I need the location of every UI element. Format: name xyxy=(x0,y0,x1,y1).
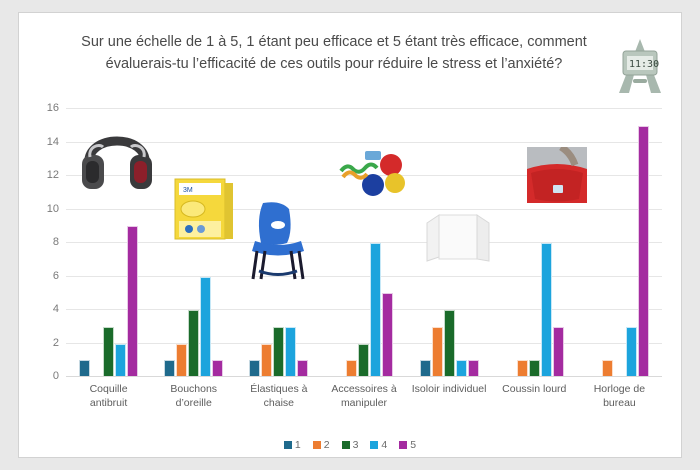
x-axis-label: Bouchons d’oreille xyxy=(151,383,236,411)
bar-series-3 xyxy=(529,360,540,377)
y-axis-tick: 0 xyxy=(53,370,59,382)
bar-series-2 xyxy=(176,344,187,378)
x-axis-line xyxy=(66,376,662,377)
y-axis-tick: 16 xyxy=(47,102,59,114)
plot-area: 0246810121416 3M11:30 xyxy=(66,109,662,377)
bar-series-3 xyxy=(103,327,114,377)
bar-series-2 xyxy=(346,360,357,377)
bar-series-5 xyxy=(553,327,564,377)
legend-item-3[interactable]: 3 xyxy=(342,439,359,451)
y-axis-tick: 2 xyxy=(53,337,59,349)
bar-group xyxy=(66,109,151,377)
x-axis-label: Isoloir individuel xyxy=(407,383,492,411)
bar-series-1 xyxy=(420,360,431,377)
bar-series-3 xyxy=(444,310,455,377)
bar-series-4 xyxy=(456,360,467,377)
bar-group xyxy=(236,109,321,377)
bar-series-5 xyxy=(212,360,223,377)
bar-series-4 xyxy=(626,327,637,377)
bar-series-5 xyxy=(127,226,138,377)
y-axis-tick: 10 xyxy=(47,203,59,215)
legend-label: 1 xyxy=(295,439,301,451)
bar-group xyxy=(577,109,662,377)
legend-item-1[interactable]: 1 xyxy=(284,439,301,451)
y-axis-tick: 12 xyxy=(47,169,59,181)
bar-series-3 xyxy=(358,344,369,378)
bar-series-2 xyxy=(602,360,613,377)
svg-text:11:30: 11:30 xyxy=(629,59,659,70)
chart-card: Sur une échelle de 1 à 5, 1 étant peu ef… xyxy=(18,12,682,458)
chart-legend: 12345 xyxy=(19,439,681,451)
legend-label: 2 xyxy=(324,439,330,451)
legend-swatch xyxy=(342,441,350,449)
bar-series-2 xyxy=(432,327,443,377)
bar-series-5 xyxy=(638,126,649,377)
legend-item-2[interactable]: 2 xyxy=(313,439,330,451)
bar-series-1 xyxy=(249,360,260,377)
legend-label: 5 xyxy=(410,439,416,451)
bar-series-1 xyxy=(79,360,90,377)
chart-title: Sur une échelle de 1 à 5, 1 étant peu ef… xyxy=(74,31,594,76)
legend-swatch xyxy=(313,441,321,449)
bar-series-2 xyxy=(517,360,528,377)
x-axis-labels: Coquille antibruitBouchons d’oreilleÉlas… xyxy=(66,383,662,411)
bar-series-4 xyxy=(285,327,296,377)
bar-group xyxy=(321,109,406,377)
y-axis-tick: 6 xyxy=(53,270,59,282)
bar-series-4 xyxy=(115,344,126,378)
legend-swatch xyxy=(399,441,407,449)
legend-item-4[interactable]: 4 xyxy=(370,439,387,451)
bar-series-4 xyxy=(541,243,552,377)
y-axis-tick: 14 xyxy=(47,136,59,148)
bar-series-3 xyxy=(188,310,199,377)
x-axis-label: Élastiques à chaise xyxy=(236,383,321,411)
desk-timer-clock-image: 11:30 xyxy=(609,35,671,101)
bar-series-5 xyxy=(468,360,479,377)
legend-swatch xyxy=(284,441,292,449)
bar-series-1 xyxy=(164,360,175,377)
x-axis-label: Coquille antibruit xyxy=(66,383,151,411)
bar-series-2 xyxy=(261,344,272,378)
bar-series-5 xyxy=(297,360,308,377)
y-axis-tick: 4 xyxy=(53,303,59,315)
bar-groups xyxy=(66,109,662,377)
bar-group xyxy=(407,109,492,377)
legend-label: 4 xyxy=(381,439,387,451)
y-axis-tick: 8 xyxy=(53,236,59,248)
bar-series-3 xyxy=(273,327,284,377)
legend-swatch xyxy=(370,441,378,449)
legend-label: 3 xyxy=(353,439,359,451)
bar-series-5 xyxy=(382,293,393,377)
bar-series-4 xyxy=(370,243,381,377)
bar-series-4 xyxy=(200,277,211,378)
bar-group xyxy=(492,109,577,377)
x-axis-label: Coussin lourd xyxy=(492,383,577,411)
x-axis-label: Accessoires à manipuler xyxy=(321,383,406,411)
bar-group xyxy=(151,109,236,377)
x-axis-label: Horloge de bureau xyxy=(577,383,662,411)
legend-item-5[interactable]: 5 xyxy=(399,439,416,451)
